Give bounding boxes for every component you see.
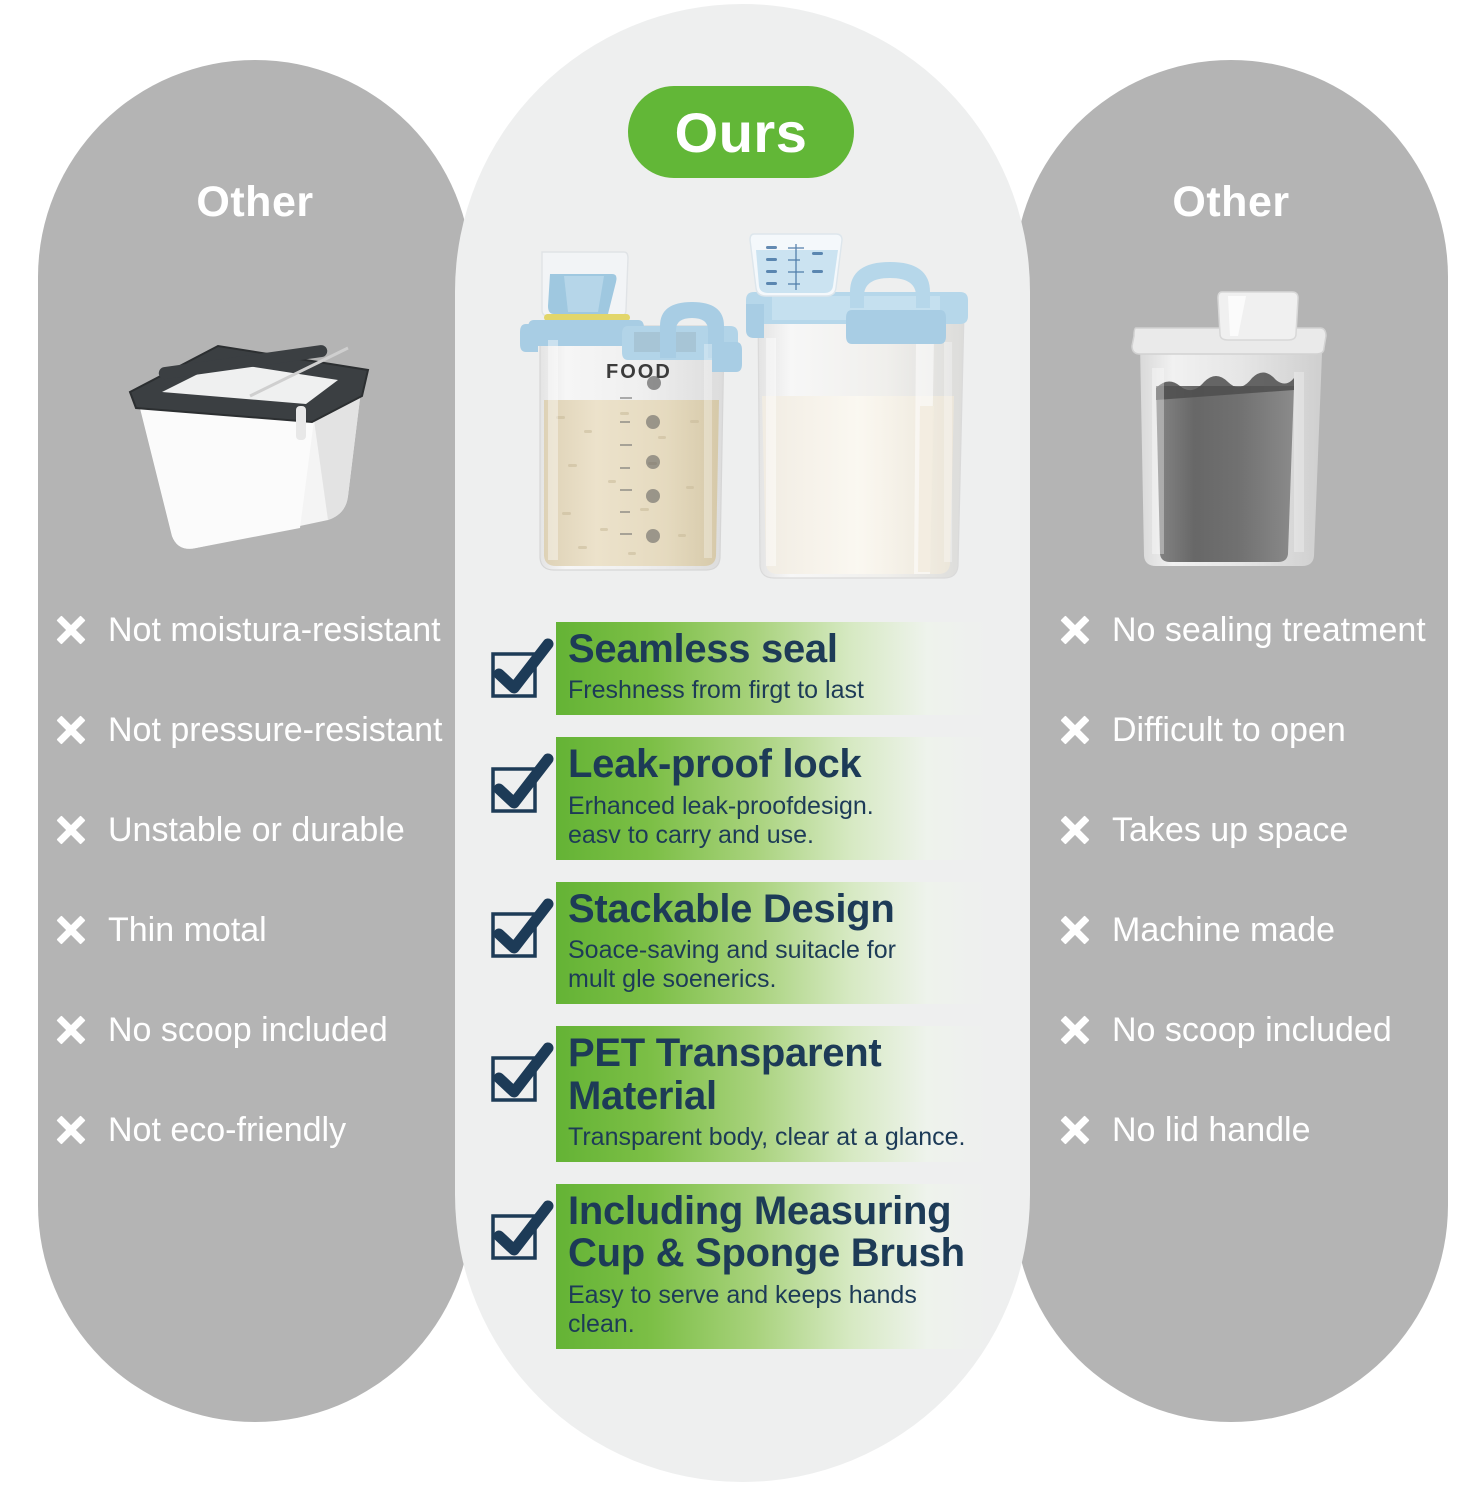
list-item: Not pressure-resistant [46, 680, 466, 780]
list-item: Difficult to open [1050, 680, 1470, 780]
x-mark-icon [1060, 1015, 1090, 1045]
x-mark-icon [1060, 715, 1090, 745]
x-mark-icon [1060, 615, 1090, 645]
x-mark-icon [1060, 915, 1090, 945]
left-product-image [100, 300, 380, 560]
feature-body: Stackable Design Soace-saving and suitac… [556, 882, 988, 1004]
right-column-title: Other [1014, 178, 1448, 227]
list-item: Thin motal [46, 880, 466, 980]
list-item-label: No sealing treatment [1112, 611, 1426, 650]
feature-item: PET Transparent Material Transparent bod… [488, 1026, 988, 1162]
right-product-image [1118, 282, 1358, 582]
feature-subtitle: Transparent body, clear at a glance. [568, 1123, 988, 1152]
x-mark-icon [56, 715, 86, 745]
feature-title: Seamless seal [568, 628, 988, 670]
list-item: Takes up space [1050, 780, 1470, 880]
feature-subtitle: Soace-saving and suitacle for mult gle s… [568, 936, 988, 994]
list-item: No scoop included [1050, 980, 1470, 1080]
list-item: No lid handle [1050, 1080, 1470, 1180]
list-item: Not eco-friendly [46, 1080, 466, 1180]
list-item: Not moistura-resistant [46, 580, 466, 680]
product-front-label: FOOD [606, 361, 672, 383]
feature-body: Seamless seal Freshness from firgt to la… [556, 622, 988, 715]
list-item-label: Thin motal [108, 911, 267, 950]
list-item: Machine made [1050, 880, 1470, 980]
list-item-label: Not pressure-resistant [108, 711, 442, 750]
list-item-label: No scoop included [1112, 1011, 1392, 1050]
right-column-negative-list: No sealing treatment Difficult to open T… [1050, 580, 1470, 1180]
list-item-label: No scoop included [108, 1011, 388, 1050]
list-item-label: Takes up space [1112, 811, 1348, 850]
feature-subtitle: Easy to serve and keeps hands clean. [568, 1281, 988, 1339]
feature-body: PET Transparent Material Transparent bod… [556, 1026, 988, 1162]
feature-title: Leak-proof lock [568, 743, 988, 785]
feature-body: Including Measuring Cup & Sponge Brush E… [556, 1184, 988, 1349]
x-mark-icon [56, 815, 86, 845]
feature-title: Stackable Design [568, 888, 988, 930]
list-item: Unstable or durable [46, 780, 466, 880]
feature-item: Seamless seal Freshness from firgt to la… [488, 622, 988, 715]
x-mark-icon [56, 1115, 86, 1145]
x-mark-icon [1060, 815, 1090, 845]
checkbox-checked-icon [488, 640, 550, 702]
checkbox-checked-icon [488, 755, 550, 817]
list-item-label: No lid handle [1112, 1111, 1310, 1150]
left-column-title: Other [38, 178, 472, 227]
checkbox-checked-icon [488, 1202, 550, 1264]
ours-badge: Ours [628, 86, 854, 178]
list-item-label: Machine made [1112, 911, 1335, 950]
x-mark-icon [56, 1015, 86, 1045]
ours-product-image-front: FOOD [508, 240, 758, 585]
feature-body: Leak-proof lock Erhanced leak-proofdesig… [556, 737, 988, 859]
feature-item: Leak-proof lock Erhanced leak-proofdesig… [488, 737, 988, 859]
feature-subtitle: Erhanced leak-proofdesign. easv to carry… [568, 792, 988, 850]
list-item-label: Unstable or durable [108, 811, 405, 850]
x-mark-icon [56, 615, 86, 645]
x-mark-icon [56, 915, 86, 945]
list-item-label: Not moistura-resistant [108, 611, 441, 650]
feature-subtitle: Freshness from firgt to last [568, 676, 988, 705]
ours-feature-list: Seamless seal Freshness from firgt to la… [488, 622, 988, 1371]
list-item: No sealing treatment [1050, 580, 1470, 680]
feature-item: Stackable Design Soace-saving and suitac… [488, 882, 988, 1004]
list-item-label: Difficult to open [1112, 711, 1346, 750]
ours-product-image-back [744, 226, 972, 586]
list-item-label: Not eco-friendly [108, 1111, 346, 1150]
checkbox-checked-icon [488, 900, 550, 962]
left-column-negative-list: Not moistura-resistant Not pressure-resi… [46, 580, 466, 1180]
comparison-infographic: Other Not moistura-resistant Not pres [0, 0, 1483, 1500]
feature-item: Including Measuring Cup & Sponge Brush E… [488, 1184, 988, 1349]
list-item: No scoop included [46, 980, 466, 1080]
feature-title: PET Transparent Material [568, 1032, 988, 1117]
x-mark-icon [1060, 1115, 1090, 1145]
checkbox-checked-icon [488, 1044, 550, 1106]
feature-title: Including Measuring Cup & Sponge Brush [568, 1190, 988, 1275]
